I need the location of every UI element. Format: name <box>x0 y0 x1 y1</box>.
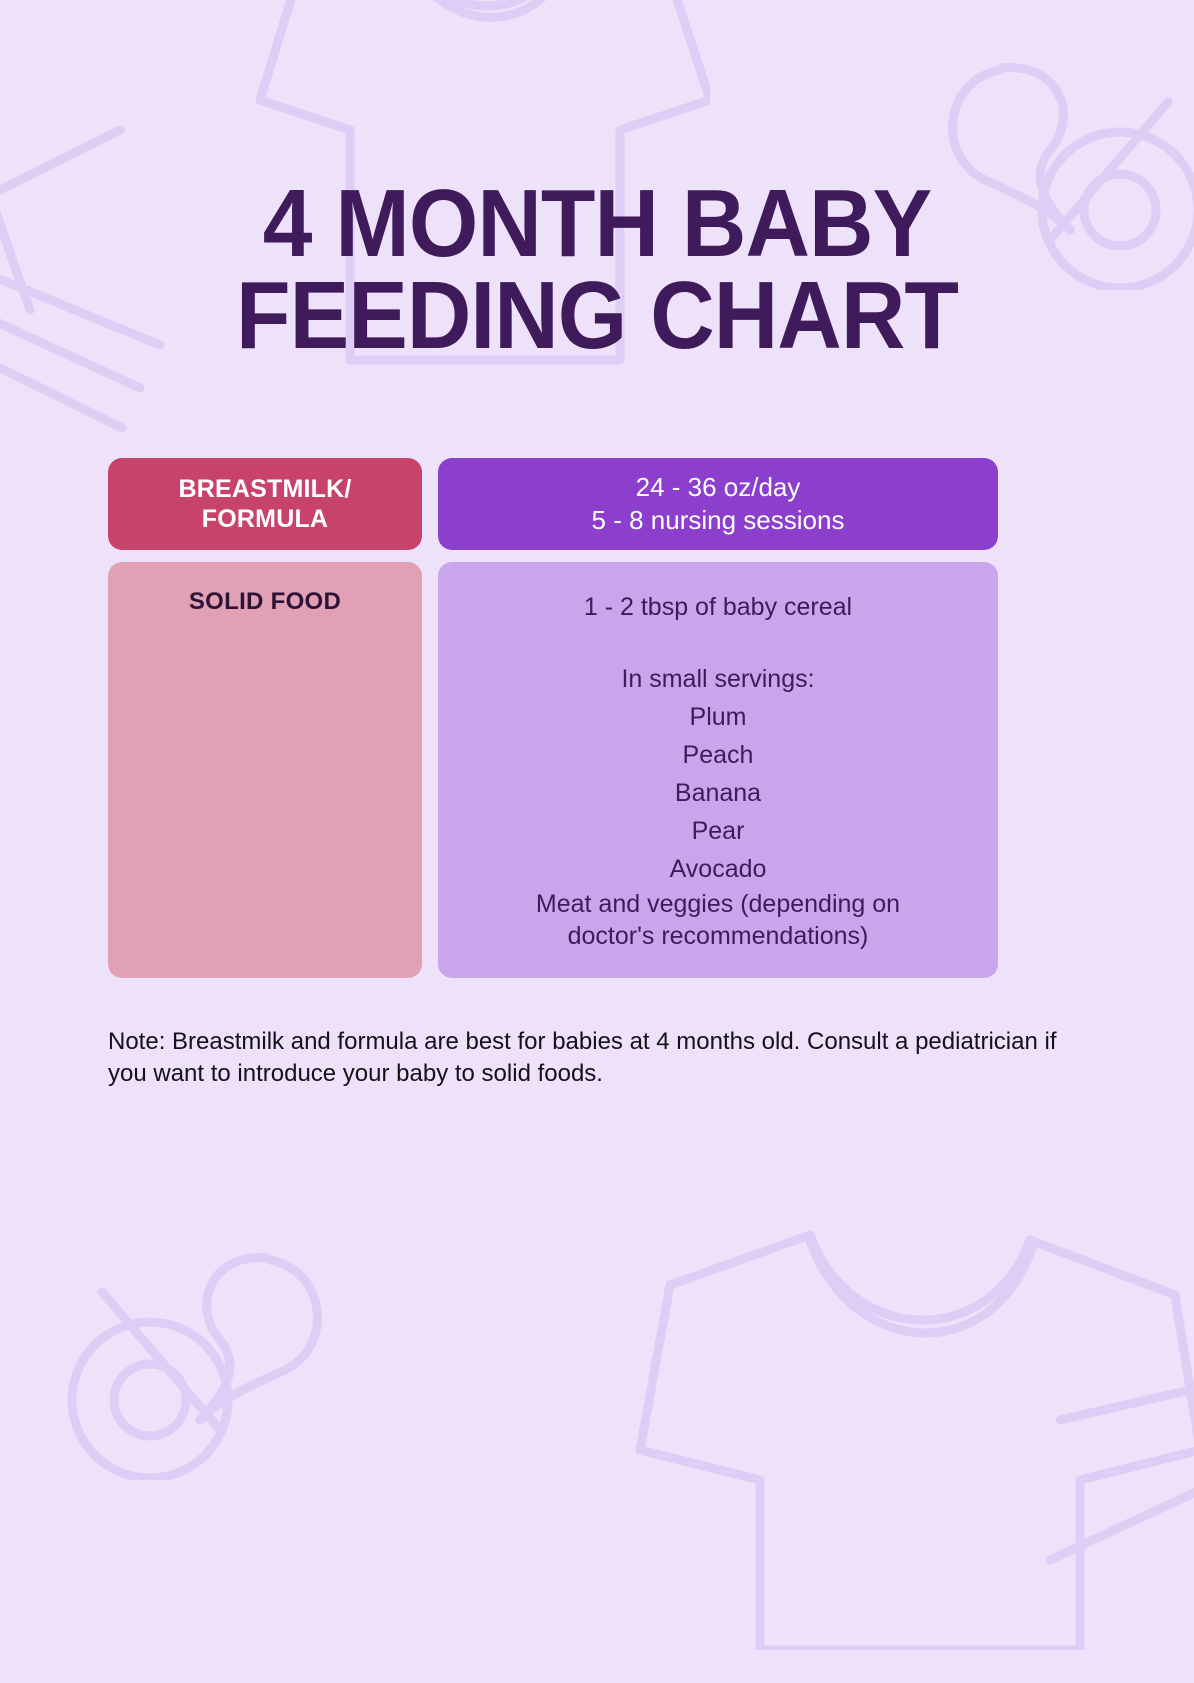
milk-sessions-line: 5 - 8 nursing sessions <box>592 504 845 537</box>
row-label-breastmilk-formula: BREASTMILK/ FORMULA <box>108 458 422 550</box>
row-value-solid-food: 1 - 2 tbsp of baby cereal In small servi… <box>438 562 998 978</box>
solid-cereal-line: 1 - 2 tbsp of baby cereal <box>584 588 852 626</box>
milk-amount-line: 24 - 36 oz/day <box>636 471 801 504</box>
solid-food-item: Meat and veggies (depending on doctor's … <box>508 888 928 952</box>
solid-food-item: Plum <box>690 698 747 736</box>
table-row: BREASTMILK/ FORMULA 24 - 36 oz/day 5 - 8… <box>108 458 998 550</box>
feeding-table: BREASTMILK/ FORMULA 24 - 36 oz/day 5 - 8… <box>108 458 998 978</box>
solid-food-item: Banana <box>675 774 761 812</box>
page-title: 4 MONTH BABY FEEDING CHART <box>142 178 1052 362</box>
solid-food-item: Peach <box>683 736 754 774</box>
footer-note: Note: Breastmilk and formula are best fo… <box>108 1026 1060 1090</box>
feeding-chart-page: 4 MONTH BABY FEEDING CHART BREASTMILK/ F… <box>0 0 1194 1683</box>
row-label-solid-food: SOLID FOOD <box>108 562 422 978</box>
solid-food-item: Pear <box>692 812 745 850</box>
solid-food-item: Avocado <box>670 850 767 888</box>
row-value-breastmilk-formula: 24 - 36 oz/day 5 - 8 nursing sessions <box>438 458 998 550</box>
table-row: SOLID FOOD 1 - 2 tbsp of baby cereal In … <box>108 562 998 978</box>
solid-servings-heading: In small servings: <box>621 660 814 698</box>
